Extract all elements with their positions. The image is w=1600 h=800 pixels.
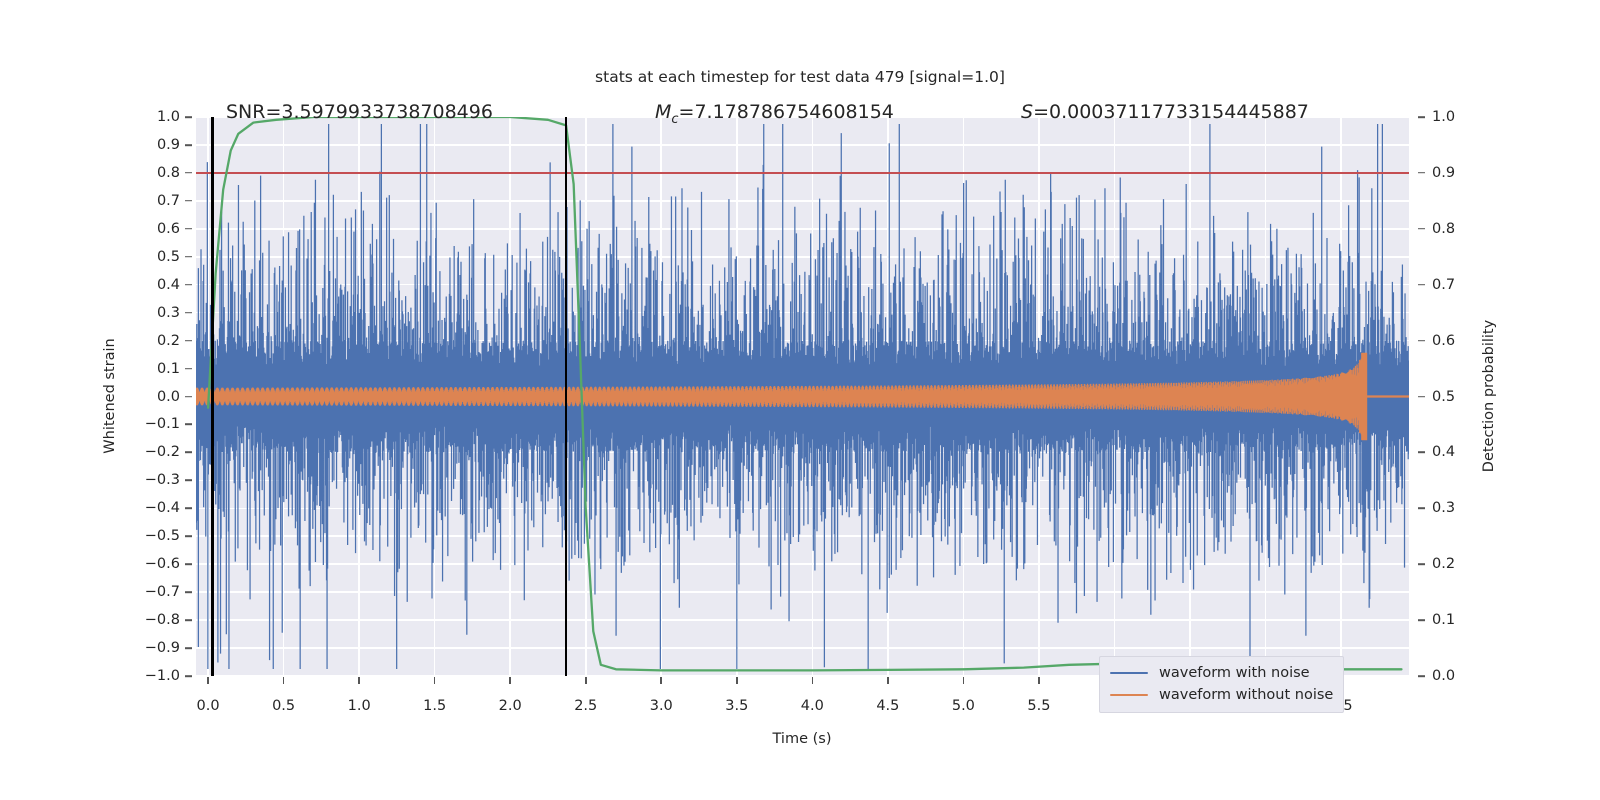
y-axis-right-tick-mark bbox=[1418, 508, 1425, 510]
vertical-marker-1 bbox=[211, 117, 213, 676]
x-axis-tick-label: 5.0 bbox=[952, 698, 975, 714]
y-axis-left-tick-mark bbox=[185, 480, 192, 482]
annotation-snr-value: 3.5979933738708496 bbox=[281, 101, 493, 123]
y-axis-left-tick-label: 0.9 bbox=[157, 137, 180, 153]
y-axis-left-tick-label: 0.5 bbox=[157, 249, 180, 265]
x-axis-tick-label: 1.5 bbox=[423, 698, 446, 714]
plot-area bbox=[196, 117, 1409, 676]
y-axis-left-tick-mark bbox=[185, 452, 192, 454]
y-axis-left-tick-label: 0.2 bbox=[157, 333, 180, 349]
legend-item-noise[interactable]: waveform with noise bbox=[1110, 662, 1333, 684]
y-axis-left-tick-label: −0.8 bbox=[145, 612, 180, 628]
y-axis-right-tick-mark bbox=[1418, 563, 1425, 565]
legend-item-signal[interactable]: waveform without noise bbox=[1110, 684, 1333, 706]
annotation-s-value: 0.00037117733154445887 bbox=[1049, 101, 1309, 123]
y-axis-right-tick-label: 0.4 bbox=[1432, 444, 1455, 460]
y-axis-right-tick-mark bbox=[1418, 452, 1425, 454]
y-axis-left-tick-mark bbox=[185, 256, 192, 258]
annotation-s-label: S bbox=[1021, 101, 1033, 123]
y-axis-left-tick-label: −0.7 bbox=[145, 584, 180, 600]
y-axis-left-tick-mark bbox=[185, 312, 192, 314]
y-axis-left-tick-label: −0.4 bbox=[145, 500, 180, 516]
annotation-mc-label: M bbox=[655, 101, 671, 123]
y-axis-left-tick-mark bbox=[185, 619, 192, 621]
y-axis-left-tick-mark bbox=[185, 116, 192, 118]
annotation-s-equals: = bbox=[1033, 101, 1049, 123]
x-axis-tick-label: 0.0 bbox=[197, 698, 220, 714]
y-axis-right-label: Detection probability bbox=[1481, 320, 1497, 472]
y-axis-left-tick-mark bbox=[185, 368, 192, 370]
annotation-chirp-mass: Mc=7.178786754608154 bbox=[655, 101, 894, 127]
legend-swatch-signal bbox=[1110, 694, 1148, 696]
y-axis-right-tick-mark bbox=[1418, 396, 1425, 398]
y-axis-left-tick-label: 0.3 bbox=[157, 305, 180, 321]
y-axis-right-tick-label: 0.2 bbox=[1432, 556, 1455, 572]
y-axis-left-tick-label: −0.5 bbox=[145, 528, 180, 544]
y-axis-left-tick-label: 0.0 bbox=[157, 389, 180, 405]
y-axis-left-tick-label: −0.3 bbox=[145, 472, 180, 488]
x-axis-tick-label: 2.5 bbox=[574, 698, 597, 714]
y-axis-right-tick-label: 0.3 bbox=[1432, 500, 1455, 516]
y-axis-left-tick-label: −0.2 bbox=[145, 444, 180, 460]
detection-probability-curve bbox=[196, 117, 1409, 676]
x-axis-tick-mark bbox=[509, 677, 511, 684]
x-axis-tick-mark bbox=[660, 677, 662, 684]
x-axis-tick-label: 0.5 bbox=[272, 698, 295, 714]
legend: waveform with noise waveform without noi… bbox=[1099, 656, 1344, 713]
y-axis-right-tick-label: 0.5 bbox=[1432, 389, 1455, 405]
x-axis-tick-mark bbox=[283, 677, 285, 684]
y-axis-right-tick-label: 0.8 bbox=[1432, 221, 1455, 237]
y-axis-left-tick-label: −0.9 bbox=[145, 640, 180, 656]
y-axis-right-tick-mark bbox=[1418, 116, 1425, 118]
vertical-marker-2 bbox=[565, 117, 567, 676]
y-axis-right-tick-label: 0.6 bbox=[1432, 333, 1455, 349]
annotation-mc-subscript: c bbox=[671, 112, 678, 127]
y-axis-left-tick-label: 0.7 bbox=[157, 193, 180, 209]
y-axis-left-tick-mark bbox=[185, 228, 192, 230]
legend-label-noise: waveform with noise bbox=[1159, 665, 1310, 681]
y-axis-right-tick-label: 0.9 bbox=[1432, 165, 1455, 181]
y-axis-right-tick-mark bbox=[1418, 340, 1425, 342]
annotation-snr-label: SNR= bbox=[226, 101, 281, 123]
x-axis-tick-mark bbox=[963, 677, 965, 684]
y-axis-left-tick-label: 0.4 bbox=[157, 277, 180, 293]
y-axis-right-tick-label: 0.7 bbox=[1432, 277, 1455, 293]
y-axis-left-tick-mark bbox=[185, 675, 192, 677]
x-axis-tick-label: 4.0 bbox=[801, 698, 824, 714]
y-axis-left-tick-label: 0.8 bbox=[157, 165, 180, 181]
probability-trace bbox=[208, 117, 1401, 670]
y-axis-left-tick-label: 0.6 bbox=[157, 221, 180, 237]
y-axis-left-tick-mark bbox=[185, 340, 192, 342]
chart-title: stats at each timestep for test data 479… bbox=[0, 68, 1600, 86]
figure-root: stats at each timestep for test data 479… bbox=[0, 0, 1600, 800]
x-axis-tick-label: 4.5 bbox=[876, 698, 899, 714]
annotation-mc-value: 7.178786754608154 bbox=[694, 101, 893, 123]
y-axis-left-tick-mark bbox=[185, 284, 192, 286]
y-axis-right-tick-mark bbox=[1418, 228, 1425, 230]
x-axis-tick-mark bbox=[585, 677, 587, 684]
x-axis-tick-label: 1.0 bbox=[348, 698, 371, 714]
y-axis-right-tick-label: 0.1 bbox=[1432, 612, 1455, 628]
y-axis-left-tick-mark bbox=[185, 647, 192, 649]
y-axis-left-tick-mark bbox=[185, 508, 192, 510]
annotation-significance: S=0.00037117733154445887 bbox=[1021, 101, 1309, 123]
y-axis-left-tick-label: −0.1 bbox=[145, 416, 180, 432]
y-axis-left-tick-mark bbox=[185, 535, 192, 537]
y-axis-left-tick-mark bbox=[185, 563, 192, 565]
y-axis-left-tick-label: −0.6 bbox=[145, 556, 180, 572]
y-axis-left-tick-mark bbox=[185, 144, 192, 146]
annotation-snr: SNR=3.5979933738708496 bbox=[226, 101, 493, 123]
y-axis-right-tick-mark bbox=[1418, 619, 1425, 621]
x-axis-tick-label: 3.5 bbox=[725, 698, 748, 714]
legend-swatch-noise bbox=[1110, 672, 1148, 674]
y-axis-right-tick-mark bbox=[1418, 675, 1425, 677]
y-axis-right-tick-label: 1.0 bbox=[1432, 109, 1455, 125]
y-axis-left-tick-label: −1.0 bbox=[145, 668, 180, 684]
x-axis-tick-label: 2.0 bbox=[499, 698, 522, 714]
y-axis-left-tick-mark bbox=[185, 396, 192, 398]
x-axis-tick-mark bbox=[736, 677, 738, 684]
x-axis-tick-mark bbox=[207, 677, 209, 684]
y-axis-left-tick-mark bbox=[185, 591, 192, 593]
x-axis-tick-mark bbox=[358, 677, 360, 684]
x-axis-tick-label: 5.5 bbox=[1027, 698, 1050, 714]
x-axis-tick-mark bbox=[812, 677, 814, 684]
x-axis-tick-label: 3.0 bbox=[650, 698, 673, 714]
x-axis-tick-mark bbox=[1038, 677, 1040, 684]
y-axis-left-tick-label: 0.1 bbox=[157, 361, 180, 377]
x-axis-tick-mark bbox=[887, 677, 889, 684]
y-axis-right-tick-label: 0.0 bbox=[1432, 668, 1455, 684]
y-axis-right-tick-mark bbox=[1418, 284, 1425, 286]
y-axis-left-tick-label: 1.0 bbox=[157, 109, 180, 125]
annotation-mc-equals: = bbox=[679, 101, 695, 123]
y-axis-left-label: Whitened strain bbox=[102, 338, 118, 453]
x-axis-tick-mark bbox=[434, 677, 436, 684]
y-axis-left-tick-mark bbox=[185, 200, 192, 202]
x-axis-label: Time (s) bbox=[773, 731, 832, 747]
y-axis-right-tick-mark bbox=[1418, 172, 1425, 174]
y-axis-left-tick-mark bbox=[185, 172, 192, 174]
y-axis-left-tick-mark bbox=[185, 424, 192, 426]
legend-label-signal: waveform without noise bbox=[1159, 687, 1333, 703]
